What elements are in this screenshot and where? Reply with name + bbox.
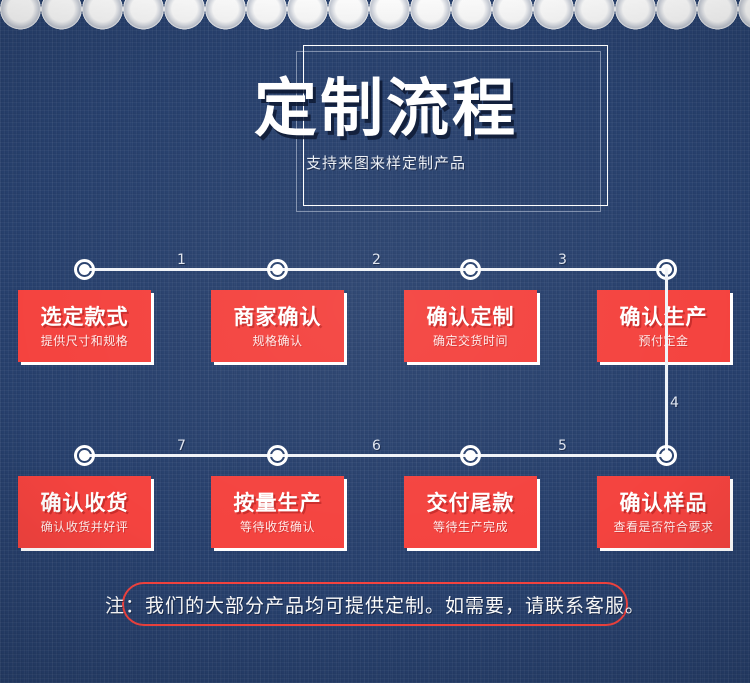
step-card-5-title: 确认样品 [620, 491, 708, 515]
step-card-1-title: 选定款式 [41, 305, 129, 329]
timeline-node-6 [460, 445, 481, 466]
note-text: 注：我们的大部分产品均可提供定制。如需要，请联系客服。 [105, 591, 645, 618]
step-number-7: 7 [177, 438, 186, 454]
step-card-5-subtitle: 查看是否符合要求 [613, 520, 713, 534]
step-card-4-title: 确认生产 [620, 305, 708, 329]
step-card-5[interactable]: 确认样品 查看是否符合要求 [597, 476, 730, 548]
page-title: 定制流程 [196, 76, 576, 142]
timeline-node-5 [656, 445, 677, 466]
step-card-7-subtitle: 等待收货确认 [240, 520, 315, 534]
step-card-4[interactable]: 确认生产 预付定金 [597, 290, 730, 362]
step-card-3-title: 确认定制 [427, 305, 515, 329]
timeline-track-row2 [84, 454, 667, 457]
step-card-2[interactable]: 商家确认 规格确认 [211, 290, 344, 362]
step-card-8-subtitle: 确认收货并好评 [41, 520, 129, 534]
step-card-3-subtitle: 确定交货时间 [433, 334, 508, 348]
step-card-6[interactable]: 交付尾款 等待生产完成 [404, 476, 537, 548]
header-block: 定制流程 支持来图来样定制产品 [0, 0, 750, 240]
step-card-8[interactable]: 确认收货 确认收货并好评 [18, 476, 151, 548]
timeline-node-3 [460, 259, 481, 280]
timeline-track-row1 [84, 268, 667, 271]
step-card-7-title: 按量生产 [234, 491, 322, 515]
step-card-1[interactable]: 选定款式 提供尺寸和规格 [18, 290, 151, 362]
step-card-7[interactable]: 按量生产 等待收货确认 [211, 476, 344, 548]
timeline-node-1 [74, 259, 95, 280]
timeline-node-2 [267, 259, 288, 280]
step-card-1-subtitle: 提供尺寸和规格 [41, 334, 129, 348]
step-number-1: 1 [177, 252, 186, 268]
step-number-3: 3 [558, 252, 567, 268]
page-subtitle: 支持来图来样定制产品 [196, 152, 576, 173]
step-number-5: 5 [558, 438, 567, 454]
timeline-node-8 [74, 445, 95, 466]
step-card-2-title: 商家确认 [234, 305, 322, 329]
step-number-4: 4 [670, 395, 679, 411]
step-card-3[interactable]: 确认定制 确定交货时间 [404, 290, 537, 362]
step-card-6-subtitle: 等待生产完成 [433, 520, 508, 534]
step-number-6: 6 [372, 438, 381, 454]
step-number-2: 2 [372, 252, 381, 268]
timeline-node-7 [267, 445, 288, 466]
step-card-4-subtitle: 预付定金 [638, 334, 688, 348]
step-card-6-title: 交付尾款 [427, 491, 515, 515]
note-banner: 注：我们的大部分产品均可提供定制。如需要，请联系客服。 [122, 582, 628, 626]
promo-banner: 定制流程 支持来图来样定制产品 1 2 3 选定款式 提供尺寸和规格 商家确认 … [0, 0, 750, 683]
step-card-8-title: 确认收货 [41, 491, 129, 515]
step-card-2-subtitle: 规格确认 [252, 334, 302, 348]
timeline-track-vertical [665, 268, 668, 456]
